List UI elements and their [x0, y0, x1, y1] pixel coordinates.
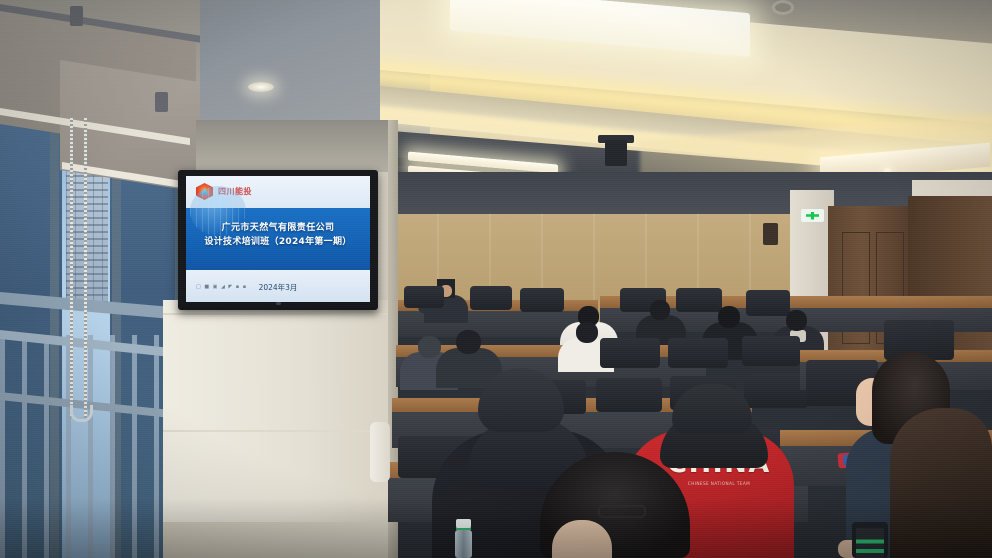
attendee-mid-left-head [418, 336, 441, 358]
chair-row-2-4 [744, 374, 808, 408]
tv-power-led-icon [276, 302, 281, 305]
center-pillar [163, 300, 395, 558]
chair-row-1-1 [600, 338, 660, 368]
attendee-china-head [672, 384, 752, 434]
pillar-base [163, 522, 395, 558]
attendee-row-2-head [456, 330, 481, 354]
slide-footer-marks: □ ■ ▣ ◢ ◤ ▪ ▪ [196, 284, 247, 290]
conference-room-photo: 四川能投 广元市天然气有限责任公司 设计技术培训班（2024年第一期） 2024… [0, 0, 992, 558]
ceiling-camera-icon [605, 140, 627, 166]
attendee-mid-center-head [576, 322, 598, 343]
chair-row-2-2 [596, 378, 662, 412]
presentation-slide[interactable]: 四川能投 广元市天然气有限责任公司 设计技术培训班（2024年第一期） 2024… [186, 176, 370, 302]
smartphone-screen [856, 528, 884, 558]
chair-back-3 [520, 288, 564, 312]
mid-wall-shadow [196, 120, 396, 172]
attendee-back-2-head [650, 300, 670, 320]
chair-row-1-3 [742, 336, 800, 366]
slide-title-line-1: 广元市天然气有限责任公司 [186, 220, 370, 233]
tv-drop-shadow [178, 308, 378, 314]
slide-title-line-2: 设计技术培训班（2024年第一期） [186, 234, 370, 247]
water-bottle-cap [456, 519, 471, 528]
blind-chain-loop[interactable] [70, 405, 93, 422]
thermos-cup[interactable] [370, 422, 390, 482]
attendee-back-4-head [786, 310, 807, 331]
chair-back-1 [404, 286, 444, 308]
blind-bracket-1 [70, 6, 83, 26]
chair-back-2 [470, 286, 512, 310]
blind-chain-right[interactable] [84, 118, 87, 418]
water-bottle[interactable] [455, 530, 472, 558]
chair-back-6 [746, 290, 790, 316]
pillar-seam-lower [163, 430, 395, 432]
eyeglasses-icon [598, 505, 646, 518]
blind-chain-left[interactable] [70, 118, 73, 418]
wall-speaker-icon [763, 223, 778, 245]
blind-bracket-2 [155, 92, 168, 112]
chair-back-5 [676, 288, 722, 312]
recessed-downlight-icon [248, 82, 274, 92]
attendee-right-front-hair [890, 408, 992, 558]
chair-row-1-2 [668, 338, 728, 368]
sprinkler-icon [775, 3, 791, 12]
attendee-back-3-head [718, 306, 740, 328]
exit-sign-icon [801, 209, 824, 222]
